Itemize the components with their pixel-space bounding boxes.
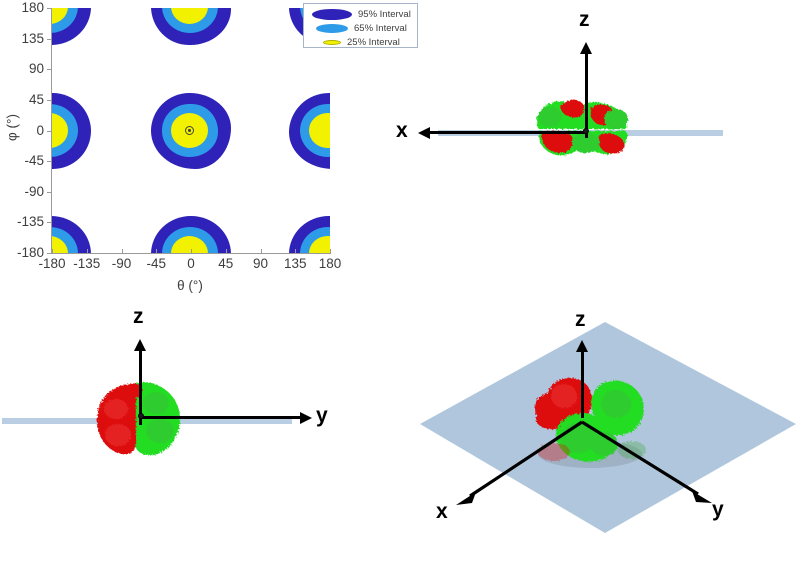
x-tick-label: 180 (300, 256, 360, 271)
y-axis-label: y (316, 404, 328, 428)
legend-swatch-95-icon (312, 9, 352, 20)
3d-view-panel: z x y (420, 300, 796, 562)
x-axis-label: x (436, 500, 448, 524)
mode-center-marker (185, 126, 194, 135)
z-axis-line (581, 350, 584, 418)
y-tick (47, 131, 52, 132)
x-tick (52, 249, 53, 254)
y-tick-label: -90 (0, 184, 44, 199)
z-axis-arrowhead-icon (580, 42, 592, 54)
y-tick (47, 39, 52, 40)
z-axis-label: z (133, 305, 144, 329)
y-tick (47, 161, 52, 162)
x-tick (295, 249, 296, 254)
y-tick-label: -135 (0, 214, 44, 229)
x-tick (87, 249, 88, 254)
xz-view-panel: z x (390, 0, 796, 205)
y-axis-title: φ (°) (5, 98, 20, 158)
origin-marker (138, 413, 144, 419)
x-axis-line (430, 131, 588, 134)
z-axis-arrowhead-icon (134, 339, 146, 351)
y-axis-line (140, 416, 300, 419)
contour-plot-panel: 180 135 90 45 0 -45 -90 -135 -180 -180 -… (0, 0, 430, 300)
x-tick (226, 249, 227, 254)
z-axis-label: z (575, 308, 586, 332)
z-axis-arrowhead-icon (576, 340, 588, 352)
x-tick (330, 249, 331, 254)
y-tick-label: 135 (0, 31, 44, 46)
y-axis-label: y (712, 498, 724, 522)
x-axis-label: x (396, 119, 408, 143)
y-tick (47, 100, 52, 101)
contour-plot-area (52, 8, 330, 253)
yz-view-panel: z y (60, 305, 420, 505)
x-tick (191, 249, 192, 254)
x-tick (122, 249, 123, 254)
legend-swatch-25-icon (323, 40, 341, 45)
y-tick-label: 90 (0, 61, 44, 76)
y-axis-arrowhead-icon (300, 412, 312, 424)
legend-swatch-65-icon (316, 24, 348, 33)
origin-marker (583, 128, 589, 134)
y-tick (47, 192, 52, 193)
x-axis-arrowhead-icon (418, 127, 430, 139)
z-axis-label: z (579, 8, 590, 32)
y-tick (47, 69, 52, 70)
x-tick (261, 249, 262, 254)
z-axis-line (585, 52, 588, 138)
protein-molecule (520, 370, 660, 470)
y-tick (47, 8, 52, 9)
y-tick-label: 180 (0, 0, 44, 15)
x-tick (156, 249, 157, 254)
y-tick (47, 222, 52, 223)
x-axis-title: θ (°) (130, 278, 250, 293)
